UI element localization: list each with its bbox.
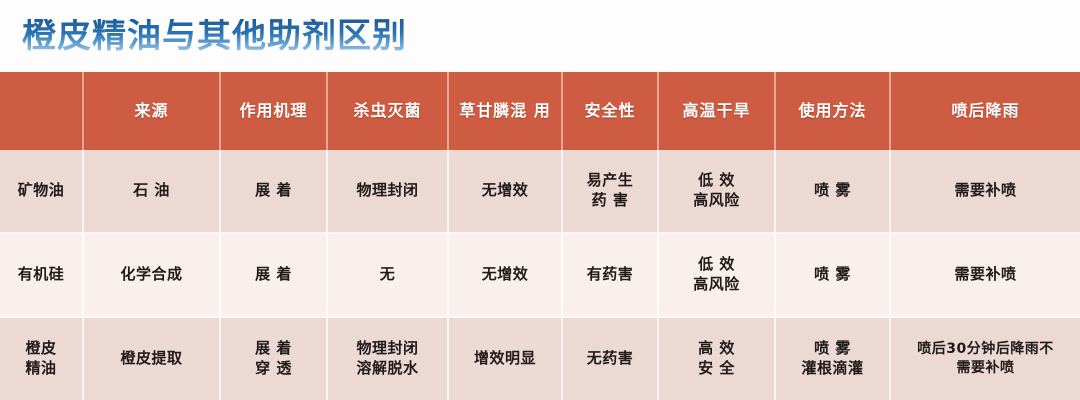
cell-line: 石 油 xyxy=(88,181,215,201)
cell-line: 草甘膦 xyxy=(459,101,510,120)
cell-silicone-mechanism: 展 着 xyxy=(220,233,327,316)
row-label-mineral-oil: 矿物油 xyxy=(0,150,83,233)
cell-line: 无 xyxy=(332,265,443,285)
page-title: 橙皮精油与其他助剂区别 xyxy=(22,19,407,53)
slide-page: 橙皮精油与其他助剂区别 来源 作用机理 杀虫灭菌 草甘膦混 用 安全性 高温干旱… xyxy=(0,0,1080,400)
cell-line: 精油 xyxy=(4,359,78,379)
cell-line: 需要补喷 xyxy=(895,181,1076,201)
cell-orange-peel-oil-rain-after-spray: 喷后30分钟后降雨不需要补喷 xyxy=(890,317,1080,400)
table-header-cell-mechanism: 作用机理 xyxy=(220,72,327,150)
cell-orange-peel-oil-glyphosate-mix: 增效明显 xyxy=(448,317,562,400)
cell-orange-peel-oil-pesticidal: 物理封闭溶解脱水 xyxy=(327,317,448,400)
table-header-row: 来源 作用机理 杀虫灭菌 草甘膦混 用 安全性 高温干旱 使用方法 喷后降雨 xyxy=(0,72,1080,150)
cell-line: 无药害 xyxy=(567,349,653,369)
cell-line: 低 效 xyxy=(663,255,770,275)
cell-line: 安 全 xyxy=(663,359,770,379)
cell-orange-peel-oil-heat-drought: 高 效安 全 xyxy=(658,317,775,400)
cell-line: 无增效 xyxy=(453,181,557,201)
cell-mineral-oil-source: 石 油 xyxy=(83,150,220,233)
cell-silicone-rain-after-spray: 需要补喷 xyxy=(890,233,1080,316)
cell-line: 喷 雾 xyxy=(780,181,885,201)
row-label-orange-peel-oil: 橙皮精油 xyxy=(0,317,83,400)
cell-mineral-oil-rain-after-spray: 需要补喷 xyxy=(890,150,1080,233)
cell-line: 橙皮提取 xyxy=(88,349,215,369)
table-header-cell-usage: 使用方法 xyxy=(775,72,890,150)
cell-mineral-oil-glyphosate-mix: 无增效 xyxy=(448,150,562,233)
cell-line: 药 害 xyxy=(567,191,653,211)
cell-line: 需要补喷 xyxy=(895,265,1076,285)
table-header-cell-heat-drought: 高温干旱 xyxy=(658,72,775,150)
cell-line: 低 效 xyxy=(663,171,770,191)
cell-line: 作用机理 xyxy=(239,101,307,120)
cell-orange-peel-oil-mechanism: 展 着穿 透 xyxy=(220,317,327,400)
cell-line: 溶解脱水 xyxy=(332,359,443,379)
cell-line: 高 效 xyxy=(663,339,770,359)
cell-line: 来源 xyxy=(134,101,168,120)
cell-line: 安全性 xyxy=(584,101,635,120)
cell-line: 混 用 xyxy=(510,101,551,120)
cell-silicone-safety: 有药害 xyxy=(562,233,658,316)
cell-line: 需要补喷 xyxy=(895,359,1076,377)
cell-line: 有机硅 xyxy=(4,265,78,285)
cell-line: 灌根滴灌 xyxy=(780,359,885,379)
cell-mineral-oil-heat-drought: 低 效高风险 xyxy=(658,150,775,233)
cell-mineral-oil-safety: 易产生药 害 xyxy=(562,150,658,233)
table-row: 矿物油 石 油 展 着 物理封闭 无增效 易产生药 害 低 效高风险 喷 雾 需… xyxy=(0,150,1080,233)
table-body: 矿物油 石 油 展 着 物理封闭 无增效 易产生药 害 低 效高风险 喷 雾 需… xyxy=(0,150,1080,400)
title-bar: 橙皮精油与其他助剂区别 xyxy=(0,0,1080,72)
table-header: 来源 作用机理 杀虫灭菌 草甘膦混 用 安全性 高温干旱 使用方法 喷后降雨 xyxy=(0,72,1080,150)
cell-line: 化学合成 xyxy=(88,265,215,285)
cell-line: 无增效 xyxy=(453,265,557,285)
table-header-cell-safety: 安全性 xyxy=(562,72,658,150)
table-header-cell-source: 来源 xyxy=(83,72,220,150)
table-row: 有机硅 化学合成 展 着 无 无增效 有药害 低 效高风险 喷 雾 需要补喷 xyxy=(0,233,1080,316)
cell-line: 物理封闭 xyxy=(332,181,443,201)
cell-line: 使用方法 xyxy=(798,101,866,120)
cell-silicone-heat-drought: 低 效高风险 xyxy=(658,233,775,316)
cell-mineral-oil-pesticidal: 物理封闭 xyxy=(327,150,448,233)
cell-line: 易产生 xyxy=(567,171,653,191)
cell-silicone-pesticidal: 无 xyxy=(327,233,448,316)
cell-line: 喷 雾 xyxy=(780,265,885,285)
cell-line: 物理封闭 xyxy=(332,339,443,359)
cell-line: 高风险 xyxy=(663,275,770,295)
row-label-silicone: 有机硅 xyxy=(0,233,83,316)
cell-line: 展 着 xyxy=(225,181,322,201)
cell-line: 喷 雾 xyxy=(780,339,885,359)
table-header-cell-rain-after-spray: 喷后降雨 xyxy=(890,72,1080,150)
cell-silicone-glyphosate-mix: 无增效 xyxy=(448,233,562,316)
cell-line: 增效明显 xyxy=(453,349,557,369)
table-header-cell-blank xyxy=(0,72,83,150)
cell-line: 杀虫灭菌 xyxy=(353,101,421,120)
comparison-table: 来源 作用机理 杀虫灭菌 草甘膦混 用 安全性 高温干旱 使用方法 喷后降雨 矿… xyxy=(0,72,1080,400)
cell-line: 展 着 xyxy=(225,265,322,285)
cell-orange-peel-oil-source: 橙皮提取 xyxy=(83,317,220,400)
cell-orange-peel-oil-safety: 无药害 xyxy=(562,317,658,400)
cell-line: 喷后30分钟后降雨不 xyxy=(895,340,1076,358)
cell-silicone-usage: 喷 雾 xyxy=(775,233,890,316)
cell-line: 高风险 xyxy=(663,191,770,211)
cell-line: 穿 透 xyxy=(225,359,322,379)
cell-line: 矿物油 xyxy=(4,181,78,201)
cell-orange-peel-oil-usage: 喷 雾灌根滴灌 xyxy=(775,317,890,400)
cell-mineral-oil-usage: 喷 雾 xyxy=(775,150,890,233)
cell-line: 高温干旱 xyxy=(682,101,750,120)
table-header-cell-pesticidal: 杀虫灭菌 xyxy=(327,72,448,150)
table-header-cell-glyphosate-mix: 草甘膦混 用 xyxy=(448,72,562,150)
cell-silicone-source: 化学合成 xyxy=(83,233,220,316)
cell-mineral-oil-mechanism: 展 着 xyxy=(220,150,327,233)
cell-line: 有药害 xyxy=(567,265,653,285)
cell-line: 喷后降雨 xyxy=(951,101,1019,120)
cell-line: 橙皮 xyxy=(4,339,78,359)
cell-line: 展 着 xyxy=(225,339,322,359)
table-row: 橙皮精油 橙皮提取 展 着穿 透 物理封闭溶解脱水 增效明显 无药害 高 效安 … xyxy=(0,317,1080,400)
